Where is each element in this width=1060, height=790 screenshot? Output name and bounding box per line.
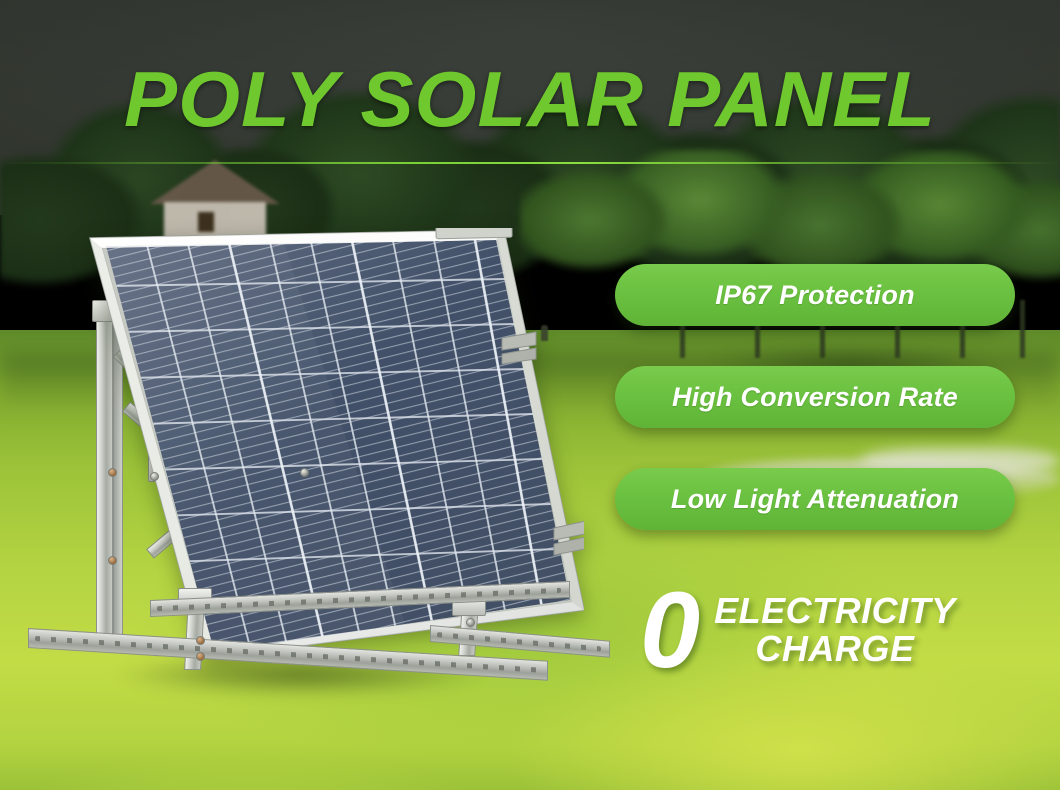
bolt — [108, 468, 117, 477]
feature-badge-label: Low Light Attenuation — [671, 484, 959, 515]
feature-badge-label: IP67 Protection — [715, 280, 915, 311]
bolt — [196, 652, 205, 661]
zero-charge-line1: ELECTRICITY — [714, 592, 956, 630]
bolt — [196, 636, 205, 645]
feature-badge-attenuation[interactable]: Low Light Attenuation — [615, 468, 1015, 530]
zero-charge-number: 0 — [632, 578, 700, 682]
solar-panel-product — [0, 0, 660, 790]
bolt — [108, 556, 117, 565]
feature-badge-ip67[interactable]: IP67 Protection — [615, 264, 1015, 326]
bolt — [300, 468, 309, 477]
bolt — [150, 472, 159, 481]
zero-charge-line2: CHARGE — [714, 630, 956, 668]
zero-charge-text: ELECTRICITY CHARGE — [714, 578, 956, 668]
feature-badge-label: High Conversion Rate — [672, 382, 958, 413]
zero-charge-highlight: 0 ELECTRICITY CHARGE — [632, 578, 1032, 693]
bolt — [466, 618, 475, 627]
product-banner: POLY SOLAR PANEL — [0, 0, 1060, 790]
feature-badge-list: IP67 Protection High Conversion Rate Low… — [615, 264, 1015, 570]
feature-badge-conversion[interactable]: High Conversion Rate — [615, 366, 1015, 428]
